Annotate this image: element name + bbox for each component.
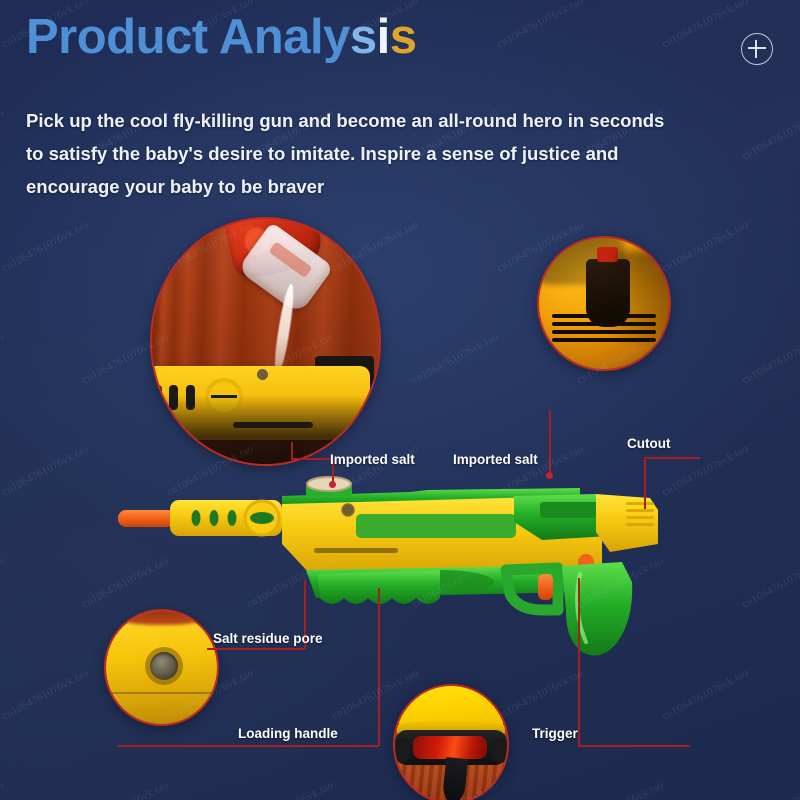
leader-trigger-v (578, 578, 580, 746)
trigger (538, 574, 553, 600)
helmet-goggles-photo (393, 684, 509, 800)
barrel-vent (210, 510, 219, 526)
leader-loading-handle-h (117, 745, 379, 747)
leader-dot-imported-salt-left (329, 481, 336, 488)
label-salt-residue-pore: Salt residue pore (213, 631, 323, 646)
watermark-text: cn1064761076vk.tao (495, 0, 586, 51)
page-title-segment-1: Product Analy (26, 10, 350, 64)
page-subtitle: Pick up the cool fly-killing gun and bec… (26, 104, 666, 203)
watermark-text: cn1064761076vk.tao (660, 443, 751, 499)
watermark-text: cn1064761076vk.tao (0, 667, 91, 723)
label-cutout: Cutout (627, 436, 670, 451)
page-title: Product Analysis (26, 13, 417, 62)
watermark-text: cn1064761076vk.tao (740, 555, 800, 611)
residue-pore-hole (150, 652, 178, 680)
barrel-vent (228, 510, 237, 526)
leader-imported-salt-right-v (549, 410, 551, 476)
page-title-segment-4: s (390, 10, 417, 64)
product-analysis-page: Product Analysis Pick up the cool fly-ki… (0, 0, 800, 800)
watermark-text: cn1064761076vk.tao (575, 779, 666, 800)
salt-residue-pore-photo (104, 609, 219, 726)
cutout-closeup-photo (537, 236, 671, 371)
leader-imported-salt-left-h (291, 458, 333, 460)
goggles-lens (413, 736, 487, 759)
front-sight-center (250, 512, 274, 524)
watermark-text: cn1064761076vk.tao (660, 0, 751, 51)
side-panel-green (356, 514, 516, 538)
label-imported-salt-left: Imported salt (330, 452, 415, 467)
plus-circle-icon[interactable] (741, 33, 773, 65)
label-imported-salt-right: Imported salt (453, 452, 538, 467)
watermark-text: cn1064761076vk.tao (660, 667, 751, 723)
muzzle-tip (118, 510, 176, 527)
watermark-text: cn1064761076vk.tao (495, 667, 586, 723)
salt-pouring-photo (150, 217, 381, 466)
receiver-ribs (540, 502, 598, 518)
page-title-segment-2: s (350, 10, 377, 64)
leader-trigger-h (578, 745, 690, 747)
watermark-text: cn1064761076vk.tao (245, 779, 336, 800)
residue-pore (342, 504, 354, 516)
watermark-text: cn1064761076vk.tao (0, 443, 91, 499)
page-title-segment-3: i (377, 10, 390, 64)
barrel-vent (192, 510, 201, 526)
watermark-text: cn1064761076vk.tao (80, 779, 171, 800)
watermark-text: cn1064761076vk.tao (740, 779, 800, 800)
watermark-text: cn1064761076vk.tao (740, 107, 800, 163)
cutout-shade (617, 251, 671, 343)
goggles-strap-left (393, 737, 411, 763)
watermark-text: cn1064761076vk.tao (0, 555, 6, 611)
pistol-grip (562, 562, 632, 656)
watermark-text: cn1064761076vk.tao (740, 331, 800, 387)
leader-cutout-h (644, 457, 700, 459)
label-trigger: Trigger (532, 726, 578, 741)
watermark-text: cn1064761076vk.tao (0, 779, 6, 800)
leader-pore-h (207, 648, 305, 650)
watermark-text: cn1064761076vk.tao (660, 219, 751, 275)
goggles-strap-right (491, 737, 509, 763)
body-seam (110, 692, 212, 694)
body-slot (314, 548, 398, 553)
watermark-text: cn1064761076vk.tao (0, 219, 91, 275)
watermark-text: cn1064761076vk.tao (410, 331, 501, 387)
leader-cutout-v (644, 457, 646, 509)
leader-imported-salt-left-v2 (291, 442, 293, 459)
label-loading-handle: Loading handle (238, 726, 338, 741)
leader-dot-imported-salt-right (546, 472, 553, 479)
body-knob (257, 369, 268, 380)
watermark-text: cn1064761076vk.tao (0, 331, 6, 387)
pore-photo-top-shadow (117, 609, 206, 625)
leader-loading-handle-v (378, 588, 380, 746)
watermark-text: cn1064761076vk.tao (0, 107, 6, 163)
